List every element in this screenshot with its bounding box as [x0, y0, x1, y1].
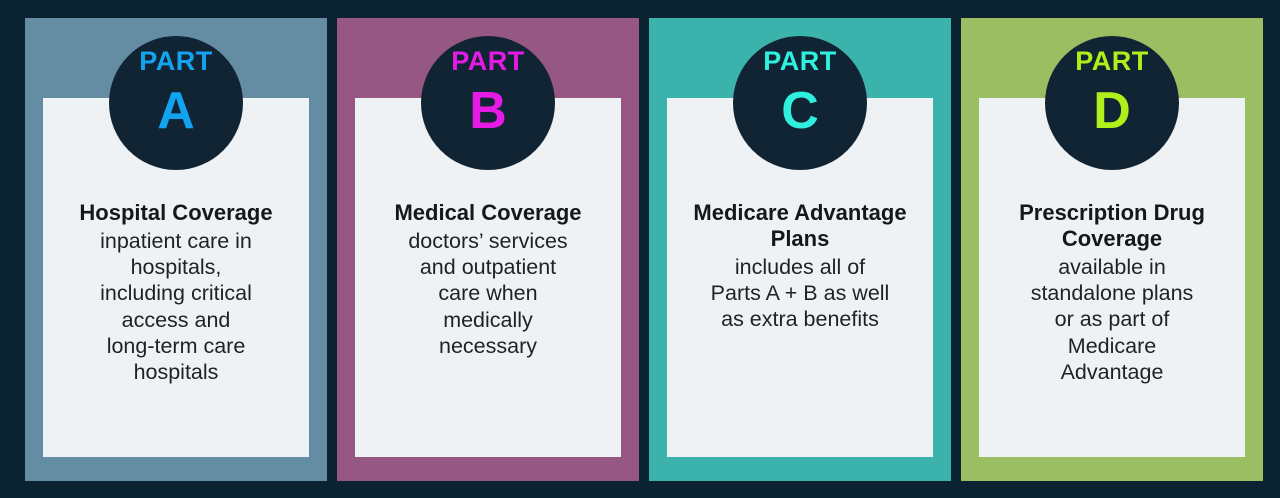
badge-word-d: PART	[1075, 48, 1149, 75]
card-part-b: Medical Coverage doctors’ services and o…	[337, 18, 639, 481]
badge-letter-a: A	[157, 85, 195, 137]
card-part-d: Prescription Drug Coverage available in …	[961, 18, 1263, 481]
card-body-a: inpatient care in hospitals, including c…	[55, 228, 297, 385]
medicare-parts-diagram: Hospital Coverage inpatient care in hosp…	[0, 0, 1280, 498]
badge-letter-b: B	[469, 85, 507, 137]
part-badge-d: PART D	[1045, 36, 1179, 170]
card-body-d: available in standalone plans or as part…	[991, 254, 1233, 385]
card-heading-d: Prescription Drug Coverage	[991, 200, 1233, 252]
card-heading-c: Medicare Advantage Plans	[679, 200, 921, 252]
card-body-b: doctors’ services and outpatient care wh…	[367, 228, 609, 359]
card-part-a: Hospital Coverage inpatient care in hosp…	[25, 18, 327, 481]
card-part-c: Medicare Advantage Plans includes all of…	[649, 18, 951, 481]
badge-word-b: PART	[451, 48, 525, 75]
card-body-c: includes all of Parts A + B as well as e…	[679, 254, 921, 333]
badge-letter-d: D	[1093, 85, 1131, 137]
part-badge-b: PART B	[421, 36, 555, 170]
card-heading-a: Hospital Coverage	[55, 200, 297, 226]
badge-word-a: PART	[139, 48, 213, 75]
badge-word-c: PART	[763, 48, 837, 75]
part-badge-c: PART C	[733, 36, 867, 170]
card-heading-b: Medical Coverage	[367, 200, 609, 226]
part-badge-a: PART A	[109, 36, 243, 170]
badge-letter-c: C	[781, 85, 819, 137]
